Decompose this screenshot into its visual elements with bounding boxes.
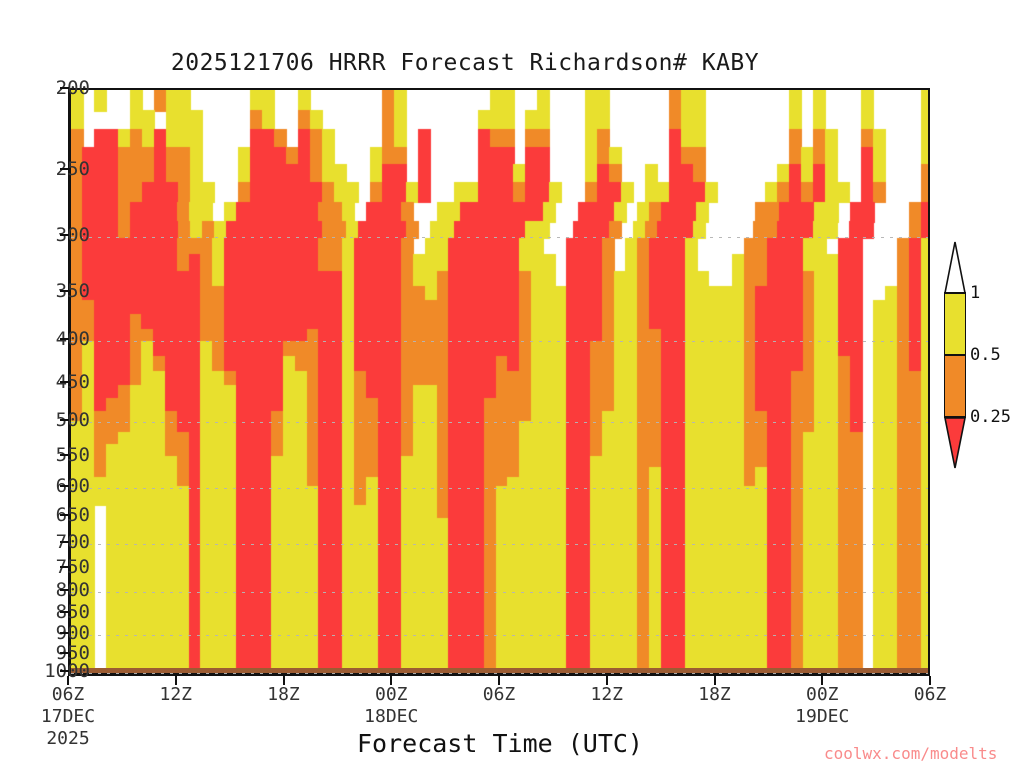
y-axis-tick-mark (60, 381, 69, 383)
x-axis-tick-label: 12Z (590, 684, 623, 705)
colorbar-tick-label: 0.25 (970, 407, 1011, 427)
x-tick-time: 06Z (52, 684, 85, 705)
y-axis-tick-mark (60, 485, 69, 487)
chart-page: 2025121706 HRRR Forecast Richardson# KAB… (0, 0, 1024, 768)
colorbar-arrow-up (944, 241, 966, 293)
chart-title: 2025121706 HRRR Forecast Richardson# KAB… (0, 50, 930, 76)
colorbar-divider (944, 292, 966, 294)
y-axis-tick-mark (60, 611, 69, 613)
y-axis-tick-mark (60, 87, 69, 89)
gridline (71, 673, 928, 674)
x-tick-date: 18DEC (364, 706, 418, 727)
x-tick-time: 18Z (698, 684, 731, 705)
colorbar-segment (944, 355, 966, 417)
y-axis-tick-mark (60, 419, 69, 421)
y-axis-tick-mark (60, 541, 69, 543)
y-axis-tick-mark (60, 234, 69, 236)
y-axis-tick-mark (60, 514, 69, 516)
plot-area (68, 88, 930, 676)
x-tick-time: 12Z (159, 684, 192, 705)
x-axis-tick-label: 00Z18DEC (364, 684, 418, 727)
colorbar-divider (944, 354, 966, 356)
colorbar-tick-label: 0.5 (970, 345, 1001, 365)
colorbar-tick-label: 1 (970, 283, 980, 303)
y-axis-tick-mark (60, 454, 69, 456)
colorbar-segment (944, 293, 966, 355)
y-axis-tick-mark (60, 652, 69, 654)
y-axis-tick-mark (60, 338, 69, 340)
x-axis-tick-label: 00Z19DEC (795, 684, 849, 727)
x-tick-time: 06Z (483, 684, 516, 705)
colorbar-arrow-down (944, 417, 966, 469)
heatmap-canvas (71, 90, 928, 673)
x-axis-tick-label: 06Z (483, 684, 516, 705)
watermark: coolwx.com/modelts (824, 744, 997, 763)
x-axis-tick-label: 06Z (914, 684, 947, 705)
y-axis-tick-mark (60, 168, 69, 170)
x-tick-time: 00Z (375, 684, 408, 705)
x-axis-tick-label: 12Z (159, 684, 192, 705)
x-tick-time: 12Z (590, 684, 623, 705)
x-tick-time: 18Z (267, 684, 300, 705)
x-tick-date: 19DEC (795, 706, 849, 727)
terrain-band (71, 668, 928, 673)
colorbar (944, 293, 966, 469)
x-axis-tick-label: 18Z (698, 684, 731, 705)
x-tick-date: 17DEC (41, 706, 95, 727)
y-axis-tick-mark (60, 632, 69, 634)
x-tick-time: 00Z (806, 684, 839, 705)
x-tick-time: 06Z (914, 684, 947, 705)
y-axis-tick-mark (60, 566, 69, 568)
y-axis-tick-mark (60, 290, 69, 292)
y-axis-tick-mark (60, 589, 69, 591)
y-axis-tick-mark (60, 670, 69, 672)
heatmap-cells (71, 90, 928, 673)
x-axis-tick-label: 18Z (267, 684, 300, 705)
